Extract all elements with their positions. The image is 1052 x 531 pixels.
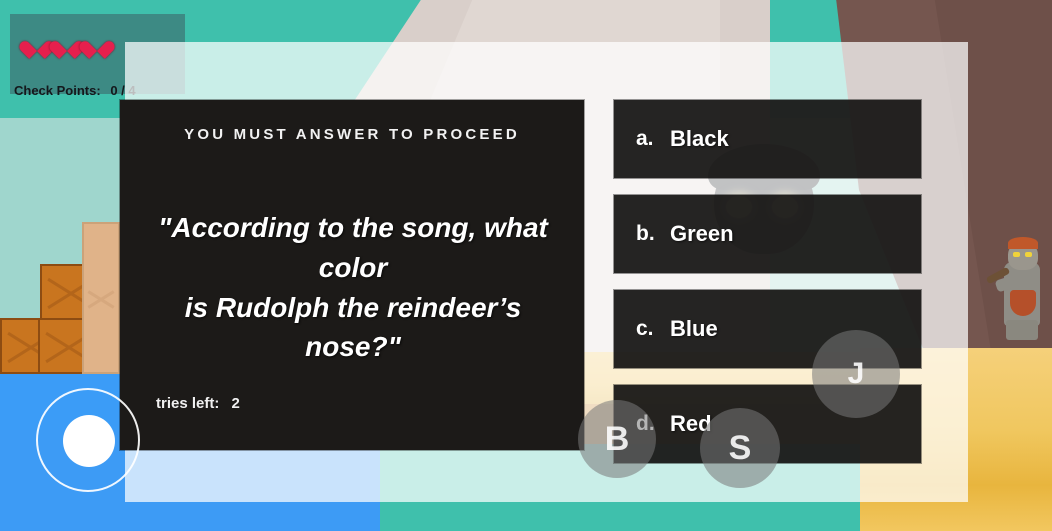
orc-enemy-sprite [996,232,1048,340]
heart-icon [86,34,108,54]
orc-loincloth [1010,290,1036,316]
hud-panel [10,14,185,94]
option-letter: a. [636,127,670,151]
answer-option-a[interactable]: a. Black [614,100,921,178]
game-screen: Check Points: 0 / 4 YOU MUST ANSWER TO P… [0,0,1052,531]
checkpoints-status: Check Points: 0 / 4 [14,83,136,98]
tries-left-status: tries left: 2 [156,395,240,412]
tries-left-label: tries left: [156,395,219,412]
orc-hair [1008,237,1038,249]
question-line-1: "According to the song, what color [138,208,568,288]
question-line-2: is Rudolph the reindeer’s nose?" [138,288,568,368]
question-header: YOU MUST ANSWER TO PROCEED [120,126,584,143]
heart-icon [56,34,78,54]
button-j[interactable]: J [812,330,900,418]
option-label: Blue [670,316,718,342]
question-text: "According to the song, what color is Ru… [138,208,568,367]
question-panel: YOU MUST ANSWER TO PROCEED "According to… [120,100,584,450]
option-letter: b. [636,222,670,246]
option-label: Green [670,221,734,247]
checkpoints-label: Check Points: [14,83,101,98]
option-letter: c. [636,317,670,341]
heart-icon [26,34,48,54]
joystick-knob[interactable] [63,415,115,467]
virtual-joystick[interactable] [36,388,140,492]
option-label: Black [670,126,729,152]
button-s[interactable]: S [700,408,780,488]
answer-option-b[interactable]: b. Green [614,195,921,273]
checkpoints-value: 0 / 4 [110,83,135,98]
orc-legs [1006,320,1038,340]
tries-left-value: 2 [232,395,240,412]
button-b[interactable]: B [578,400,656,478]
orc-eye-left [1013,252,1020,257]
orc-eye-right [1025,252,1032,257]
health-hearts [26,34,108,54]
crate [82,222,120,374]
